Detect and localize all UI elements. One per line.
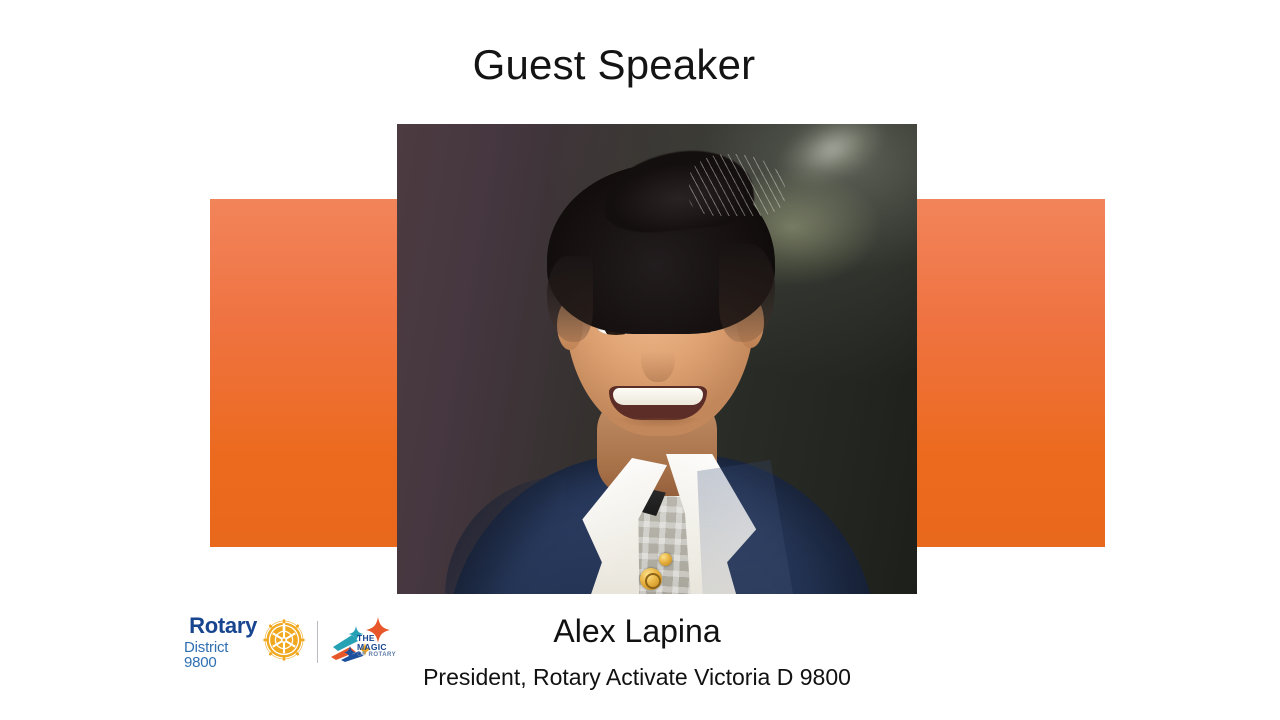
theme-line-1: THE MAGIC (357, 634, 400, 652)
hair-fade-left (547, 256, 593, 342)
rotary-district-logo: Rotary District 9800 (184, 615, 305, 670)
rotary-wheel-icon (263, 619, 305, 666)
mouth (609, 386, 707, 420)
theme-line-2: OF ROTARY (357, 652, 400, 658)
hair-highlights (689, 154, 785, 216)
suit-shadow (445, 476, 565, 594)
speaker-portrait-figure (397, 124, 917, 594)
rotary-wordmark: Rotary District 9800 (184, 615, 257, 670)
rotary-lapel-pin-icon (640, 568, 662, 590)
accent-band-left (210, 199, 406, 547)
rotary-district-label: District 9800 (184, 640, 257, 670)
speaker-photo (397, 124, 917, 594)
speaker-name: Alex Lapina (397, 612, 877, 650)
magic-of-rotary-wordmark: THE MAGIC OF ROTARY (357, 634, 400, 658)
chin-shadow (603, 418, 715, 444)
nose (641, 330, 675, 382)
rotary-word: Rotary (189, 615, 257, 637)
vertical-divider (317, 621, 318, 663)
speaker-role: President, Rotary Activate Victoria D 98… (397, 663, 877, 691)
hair-fade-right (719, 244, 775, 342)
magic-of-rotary-logo: THE MAGIC OF ROTARY (330, 617, 400, 667)
logo-lockup: Rotary District 9800 (184, 613, 400, 671)
accent-band-right (908, 199, 1105, 547)
presentation-slide: Guest Speaker (0, 0, 1280, 720)
rotary-secondary-pin-icon (659, 553, 672, 566)
page-title: Guest Speaker (0, 40, 1228, 90)
teeth (613, 388, 703, 405)
